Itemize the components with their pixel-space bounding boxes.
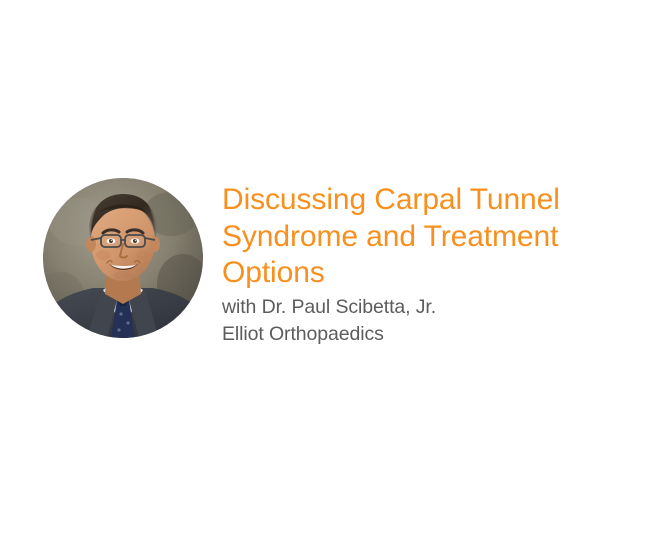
talk-title: Discussing Carpal Tunnel Syndrome and Tr… — [222, 182, 642, 292]
slide-text-block: Discussing Carpal Tunnel Syndrome and Tr… — [222, 182, 642, 348]
speaker-organization: Elliot Orthopaedics — [222, 321, 642, 348]
presentation-slide: Discussing Carpal Tunnel Syndrome and Tr… — [0, 0, 650, 545]
speaker-name: with Dr. Paul Scibetta, Jr. — [222, 294, 642, 321]
speaker-photo — [43, 178, 203, 338]
speaker-photo-illustration — [43, 178, 203, 338]
